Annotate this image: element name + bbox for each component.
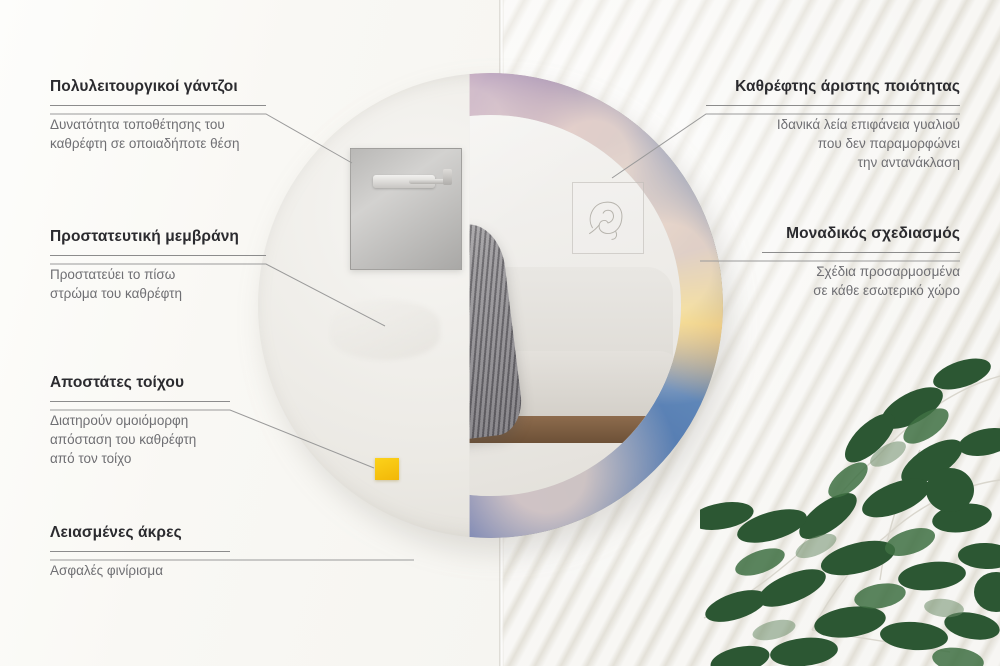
callout-quality-mirror: Καθρέφτης άριστης ποιότητας Ιδανικά λεία…: [706, 78, 960, 172]
callout-quality-line-2: που δεν παραμορφώνει: [818, 136, 960, 151]
callout-spacers-title: Αποστάτες τοίχου: [50, 374, 230, 392]
callout-spacers: Αποστάτες τοίχου Διατηρούν ομοιόμορφη απ…: [50, 374, 230, 468]
infographic-canvas: Πολυλειτουργικοί γάντζοι Δυνατότητα τοπο…: [0, 0, 1000, 666]
callout-quality-title: Καθρέφτης άριστης ποιότητας: [706, 78, 960, 96]
callout-edges-body: Ασφαλές φινίρισμα: [50, 561, 230, 580]
callout-quality-body: Ιδανικά λεία επιφάνεια γυαλιού που δεν π…: [706, 115, 960, 172]
callout-design-line-1: Σχέδια προσαρμοσμένα: [816, 264, 960, 279]
callout-membrane-rule: [50, 255, 266, 256]
hook-nub-icon: [443, 169, 452, 185]
callout-membrane-line-2: στρώμα του καθρέφτη: [50, 286, 182, 301]
line-art-face-watermark: [572, 182, 644, 254]
callout-design-body: Σχέδια προσαρμοσμένα σε κάθε εσωτερικό χ…: [762, 262, 960, 300]
callout-quality-rule: [706, 105, 960, 106]
callout-design-line-2: σε κάθε εσωτερικό χώρο: [813, 283, 960, 298]
callout-spacers-line-2: απόσταση του καθρέφτη: [50, 432, 196, 447]
product-mirror: [258, 73, 723, 538]
callout-hooks-line-2: καθρέφτη σε οποιαδήποτε θέση: [50, 136, 240, 151]
callout-quality-line-1: Ιδανικά λεία επιφάνεια γυαλιού: [777, 117, 960, 132]
callout-spacers-line-3: από τον τοίχο: [50, 451, 131, 466]
callout-hooks-title: Πολυλειτουργικοί γάντζοι: [50, 78, 266, 96]
callout-hooks-rule: [50, 105, 266, 106]
callout-design-rule: [762, 252, 960, 253]
callout-edges-line-1: Ασφαλές φινίρισμα: [50, 563, 163, 578]
callout-membrane-body: Προστατεύει το πίσω στρώμα του καθρέφτη: [50, 265, 266, 303]
callout-edges-rule: [50, 551, 230, 552]
callout-membrane-line-1: Προστατεύει το πίσω: [50, 267, 175, 282]
callout-edges-title: Λειασμένες άκρες: [50, 524, 230, 542]
callout-hooks-body: Δυνατότητα τοποθέτησης του καθρέφτη σε ο…: [50, 115, 266, 153]
callout-design-title: Μοναδικός σχεδιασμός: [762, 225, 960, 243]
callout-spacers-rule: [50, 401, 230, 402]
protective-membrane-highlight: [330, 300, 440, 360]
callout-quality-line-3: την αντανάκλαση: [858, 155, 960, 170]
decorative-plant-branch: [700, 330, 1000, 666]
callout-membrane-title: Προστατευτική μεμβράνη: [50, 228, 266, 246]
mounting-hook-panel: [350, 148, 462, 270]
callout-membrane: Προστατευτική μεμβράνη Προστατεύει το πί…: [50, 228, 266, 303]
wall-spacer-swatch: [375, 458, 399, 480]
callout-unique-design: Μοναδικός σχεδιασμός Σχέδια προσαρμοσμέν…: [762, 225, 960, 300]
callout-spacers-line-1: Διατηρούν ομοιόμορφη: [50, 413, 188, 428]
callout-hooks-line-1: Δυνατότητα τοποθέτησης του: [50, 117, 225, 132]
callout-spacers-body: Διατηρούν ομοιόμορφη απόσταση του καθρέφ…: [50, 411, 230, 468]
callout-hooks: Πολυλειτουργικοί γάντζοι Δυνατότητα τοπο…: [50, 78, 266, 153]
callout-edges: Λειασμένες άκρες Ασφαλές φινίρισμα: [50, 524, 230, 580]
